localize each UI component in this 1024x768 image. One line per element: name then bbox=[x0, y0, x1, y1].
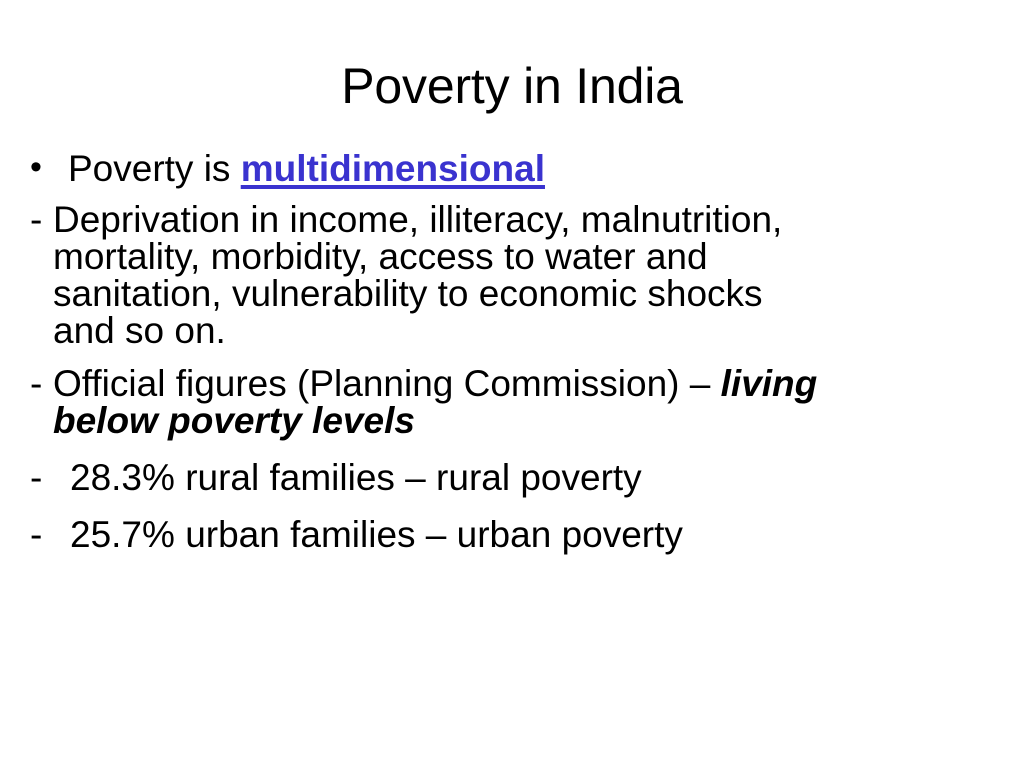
list-item: - Deprivation in income, illiteracy, mal… bbox=[30, 201, 994, 349]
list-item: • Poverty is multidimensional bbox=[30, 150, 994, 187]
rural-poverty-stat: 28.3% rural families – rural poverty bbox=[70, 459, 994, 496]
page-title: Poverty in India bbox=[0, 58, 1024, 114]
list-item-text-before: Poverty is bbox=[68, 148, 241, 189]
bullet-icon: • bbox=[30, 150, 68, 186]
list-item-line: Official figures (Planning Commission) –… bbox=[53, 365, 994, 402]
list-item-line: and so on. bbox=[53, 312, 994, 349]
list-item-line: mortality, morbidity, access to water an… bbox=[53, 238, 994, 275]
list-item: - 25.7% urban families – urban poverty bbox=[30, 516, 994, 553]
list-item: - 28.3% rural families – rural poverty bbox=[30, 459, 994, 496]
slide-body: • Poverty is multidimensional - Deprivat… bbox=[30, 150, 994, 563]
urban-poverty-stat: 25.7% urban families – urban poverty bbox=[70, 516, 994, 553]
emphasis-multidimensional[interactable]: multidimensional bbox=[241, 148, 545, 189]
official-figures-text: Official figures (Planning Commission) – bbox=[53, 363, 721, 404]
emphasis-living: living bbox=[721, 363, 818, 404]
dash-icon: - bbox=[30, 201, 53, 238]
list-item-text: Official figures (Planning Commission) –… bbox=[53, 365, 994, 439]
slide-canvas: Poverty in India • Poverty is multidimen… bbox=[0, 0, 1024, 768]
list-item-line: sanitation, vulnerability to economic sh… bbox=[53, 275, 994, 312]
dash-icon: - bbox=[30, 365, 53, 402]
list-item: - Official figures (Planning Commission)… bbox=[30, 365, 994, 439]
dash-icon: - bbox=[30, 459, 70, 496]
list-item-text: Deprivation in income, illiteracy, malnu… bbox=[53, 201, 994, 349]
list-item-text: Poverty is multidimensional bbox=[68, 150, 994, 187]
dash-icon: - bbox=[30, 516, 70, 553]
list-item-line: Deprivation in income, illiteracy, malnu… bbox=[53, 201, 994, 238]
emphasis-below-poverty-levels: below poverty levels bbox=[53, 402, 994, 439]
